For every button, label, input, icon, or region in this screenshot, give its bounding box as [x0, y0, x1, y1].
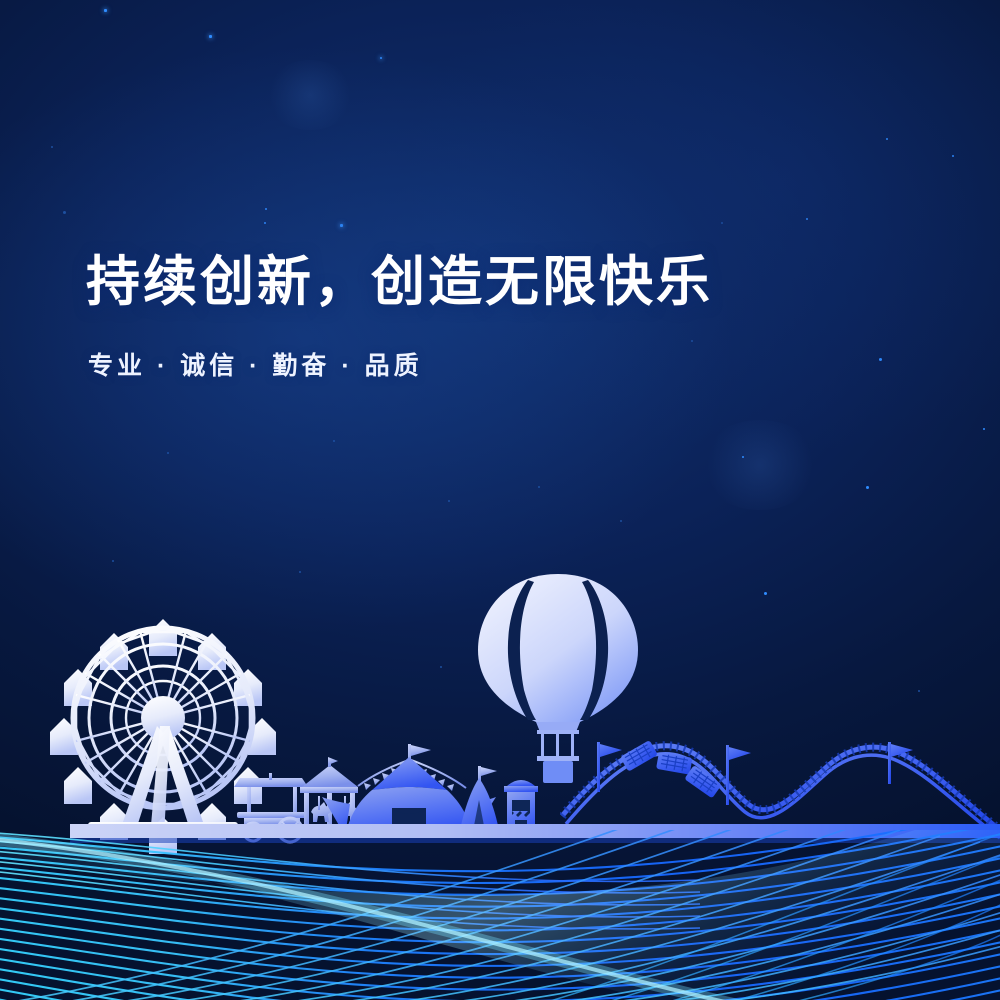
page-subtitle: 专业 · 诚信 · 勤奋 · 品质: [88, 346, 713, 382]
banner-canvas: 持续创新，创造无限快乐 专业 · 诚信 · 勤奋 · 品质: [0, 0, 1000, 1000]
banner-copy: 持续创新，创造无限快乐 专业 · 诚信 · 勤奋 · 品质: [86, 252, 713, 382]
page-title: 持续创新，创造无限快乐: [86, 252, 713, 312]
light-wave-mesh: [0, 0, 1000, 1000]
